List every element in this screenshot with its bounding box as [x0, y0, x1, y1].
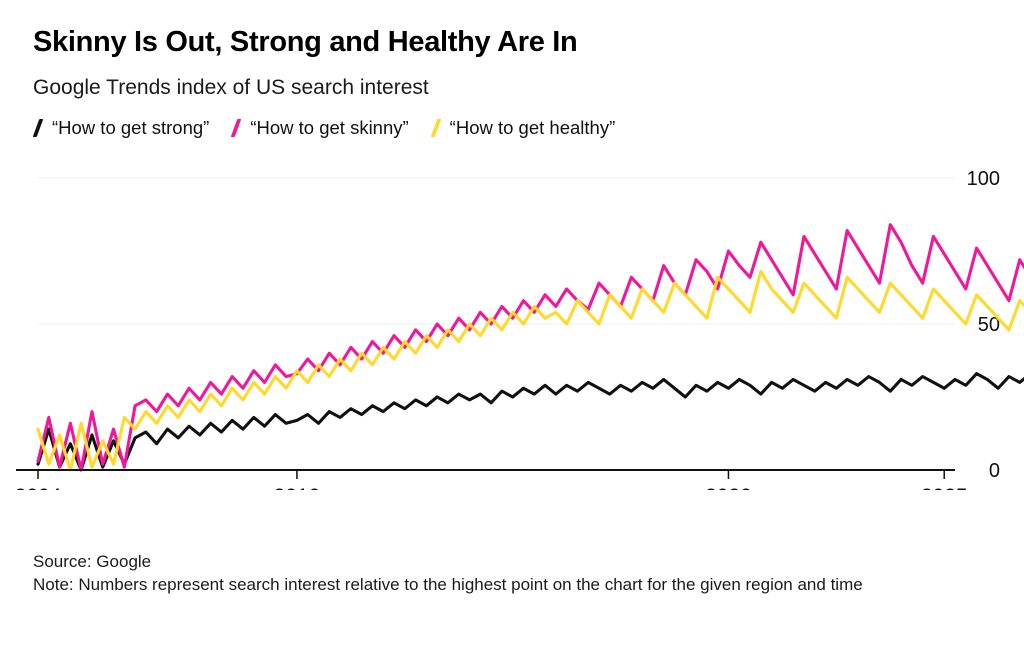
series-line-“How to get strong” [38, 213, 1024, 470]
legend-label-strong: “How to get strong” [52, 117, 209, 139]
chart-page: Skinny Is Out, Strong and Healthy Are In… [0, 0, 1024, 660]
chart-legend: “How to get strong”“How to get skinny”“H… [31, 117, 635, 139]
legend-slash-icon-strong [31, 119, 45, 137]
series-line-“How to get skinny” [38, 225, 1024, 470]
x-axis-label-2010: 2010 [274, 485, 321, 490]
x-axis-label-2025: 2025 [921, 485, 968, 490]
legend-slash-icon-healthy [429, 119, 443, 137]
source-note: Source: Google [33, 550, 983, 573]
page-subtitle: Google Trends index of US search interes… [33, 76, 429, 100]
y-axis-label-0: 0 [989, 460, 1000, 482]
methodology-note: Note: Numbers represent search interest … [33, 573, 983, 596]
page-title: Skinny Is Out, Strong and Healthy Are In [33, 26, 577, 59]
chart-area: 0501002004201020202025 [0, 140, 1024, 490]
line-chart-svg: 0501002004201020202025 [0, 140, 1024, 490]
chart-footnotes: Source: Google Note: Numbers represent s… [33, 550, 983, 597]
legend-label-skinny: “How to get skinny” [250, 117, 408, 139]
y-axis-label-100: 100 [967, 168, 1000, 190]
legend-item-healthy[interactable]: “How to get healthy” [429, 117, 616, 139]
x-axis-label-2004: 2004 [15, 485, 62, 490]
x-axis-label-2020: 2020 [705, 485, 752, 490]
legend-item-skinny[interactable]: “How to get skinny” [229, 117, 408, 139]
legend-label-healthy: “How to get healthy” [450, 117, 616, 139]
legend-item-strong[interactable]: “How to get strong” [31, 117, 209, 139]
legend-slash-icon-skinny [229, 119, 243, 137]
